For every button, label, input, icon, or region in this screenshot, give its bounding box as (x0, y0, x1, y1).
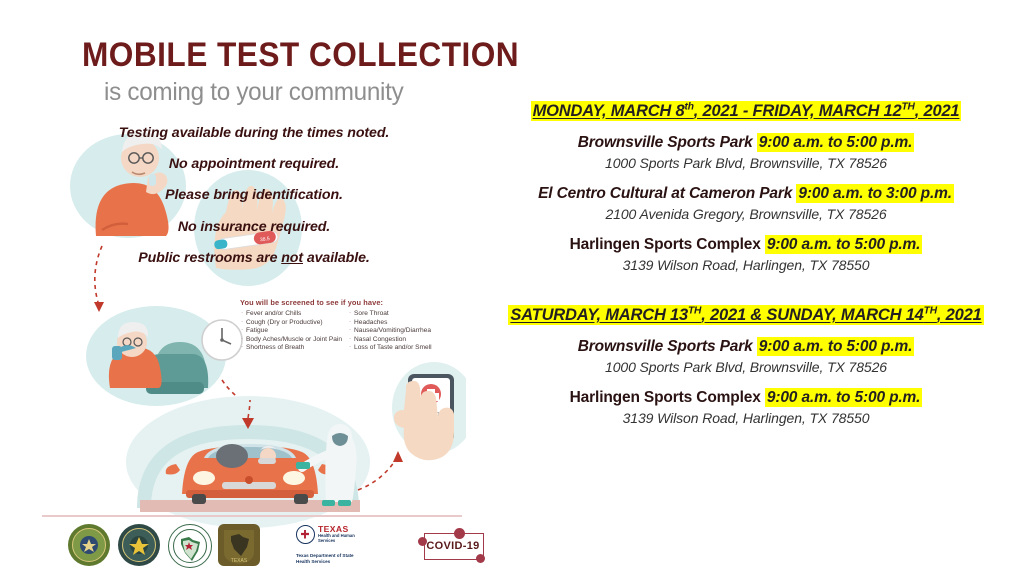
venue-address: 1000 Sports Park Blvd, Brownsville, TX 7… (468, 358, 1024, 377)
spacer (468, 275, 1024, 301)
schedule-section: SATURDAY, MARCH 13TH, 2021 & SUNDAY, MAR… (468, 301, 1024, 429)
covid-19-label: COVID-19 (416, 533, 490, 558)
agency-seal-4: TEXAS (218, 524, 260, 566)
venue-entry: El Centro Cultural at Cameron Park 9:00 … (468, 184, 1024, 224)
agency-seal-2 (118, 524, 160, 566)
list-item: Fatigue (240, 327, 342, 336)
venue-entry: Harlingen Sports Complex 9:00 a.m. to 5:… (468, 388, 1024, 428)
poster-flyer: MOBILE TEST COLLECTION is coming to your… (36, 22, 466, 560)
list-item: Shortness of Breath (240, 344, 342, 353)
venue-entry: Brownsville Sports Park 9:00 a.m. to 5:0… (468, 133, 1024, 173)
list-item: Fever and/or Chills (240, 310, 342, 319)
venue-hours: 9:00 a.m. to 3:00 p.m. (796, 184, 953, 203)
list-item: Headaches (348, 319, 432, 328)
divider (42, 515, 462, 517)
schedule-section: MONDAY, MARCH 8th, 2021 - FRIDAY, MARCH … (468, 96, 1024, 275)
venue-entry: Brownsville Sports Park 9:00 a.m. to 5:0… (468, 337, 1024, 377)
venue-name: Brownsville Sports Park (578, 338, 753, 355)
texas-dshs-line-2: Health Services (296, 559, 394, 565)
list-item: Nasal Congestion (348, 336, 432, 345)
symptoms-column-left: Fever and/or Chills Cough (Dry or Produc… (240, 310, 342, 353)
venue-address: 3139 Wilson Road, Harlingen, TX 78550 (468, 256, 1024, 275)
agency-seal-1 (68, 524, 110, 566)
symptoms-column-right: Sore Throat Headaches Nausea/Vomiting/Di… (348, 310, 432, 353)
symptoms-panel: You will be screened to see if you have:… (204, 298, 434, 353)
section-heading-weekdays: MONDAY, MARCH 8th, 2021 - FRIDAY, MARCH … (468, 96, 1024, 122)
venue-hours: 9:00 a.m. to 5:00 p.m. (765, 235, 922, 254)
list-item: Cough (Dry or Productive) (240, 319, 342, 328)
agency-seal-3 (168, 524, 212, 568)
list-item: Body Aches/Muscle or Joint Pain (240, 336, 342, 345)
list-item: No insurance required. (54, 220, 454, 234)
venue-address: 2100 Avenida Gregory, Brownsville, TX 78… (468, 205, 1024, 224)
covid-19-badge: COVID-19 (416, 528, 490, 564)
schedule-panel: MONDAY, MARCH 8th, 2021 - FRIDAY, MARCH … (468, 96, 1024, 428)
texas-hhs-seal-icon (296, 525, 315, 544)
section-heading-weekend: SATURDAY, MARCH 13TH, 2021 & SUNDAY, MAR… (468, 301, 1024, 327)
texas-hhs-logo: TEXAS Health and Human Services Texas De… (296, 525, 394, 565)
slide-canvas: MOBILE TEST COLLECTION is coming to your… (0, 0, 1024, 576)
venue-hours: 9:00 a.m. to 5:00 p.m. (757, 337, 914, 356)
venue-address: 1000 Sports Park Blvd, Brownsville, TX 7… (468, 154, 1024, 173)
venue-hours: 9:00 a.m. to 5:00 p.m. (757, 133, 914, 152)
list-item: Testing available during the times noted… (54, 126, 454, 140)
venue-entry: Harlingen Sports Complex 9:00 a.m. to 5:… (468, 235, 1024, 275)
page-subtitle: is coming to your community (104, 80, 492, 105)
agency-logos: TEXAS TEXAS Health and Human Services Te… (64, 522, 464, 576)
venue-name: Harlingen Sports Complex (570, 389, 761, 406)
list-item: No appointment required. (54, 157, 454, 171)
venue-hours: 9:00 a.m. to 5:00 p.m. (765, 388, 922, 407)
instructions-list: Testing available during the times noted… (54, 126, 454, 282)
list-item: Nausea/Vomiting/Diarrhea (348, 327, 432, 336)
page-title: MOBILE TEST COLLECTION (82, 38, 435, 72)
venue-address: 3139 Wilson Road, Harlingen, TX 78550 (468, 409, 1024, 428)
venue-name: El Centro Cultural at Cameron Park (538, 185, 792, 202)
list-item: Public restrooms are not available. (54, 251, 454, 265)
svg-text:TEXAS: TEXAS (231, 558, 248, 564)
venue-name: Harlingen Sports Complex (570, 236, 761, 253)
list-item: Please bring identification. (54, 188, 454, 202)
list-item: Sore Throat (348, 310, 432, 319)
symptoms-heading: You will be screened to see if you have: (240, 298, 434, 307)
list-item: Loss of Taste and/or Smell (348, 344, 432, 353)
venue-name: Brownsville Sports Park (578, 134, 753, 151)
